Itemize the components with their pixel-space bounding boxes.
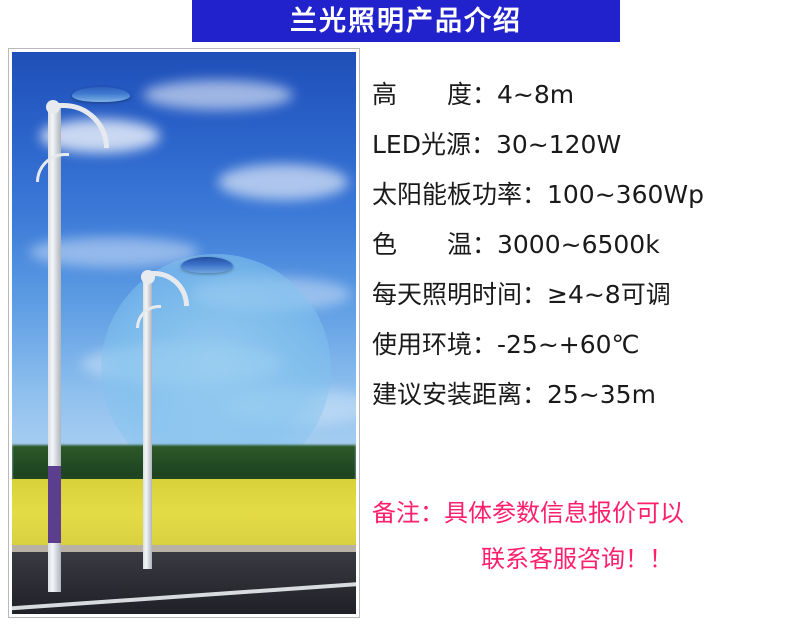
page-title: 兰光照明产品介绍 (290, 8, 522, 35)
spec-row-daily-hours: 每天照明时间：≥4~8可调 (372, 270, 792, 320)
product-image-frame (8, 48, 360, 618)
led-lamp-head-back (181, 257, 233, 273)
spec-row-environment: 使用环境：-25~+60℃ (372, 320, 792, 370)
pole-purple-band (48, 466, 61, 543)
road-marking (12, 581, 356, 611)
remark-note: 备注：具体参数信息报价可以 联系客服咨询！！ (372, 490, 792, 582)
road-curb (12, 545, 356, 552)
led-lamp-head-front (72, 87, 130, 102)
product-intro-page: 兰光照明产品介绍 (0, 0, 800, 627)
spec-row-color-temp: 色 温：3000~6500k (372, 220, 792, 270)
page-title-bar: 兰光照明产品介绍 (192, 0, 620, 42)
spec-row-height: 高 度：4~8m (372, 70, 792, 120)
spec-list: 高 度：4~8m LED光源：30~120W 太阳能板功率：100~360Wp … (372, 70, 792, 420)
spec-row-led-source: LED光源：30~120W (372, 120, 792, 170)
cloud-icon (143, 80, 293, 110)
road (12, 552, 356, 614)
remark-line-2: 联系客服咨询！！ (372, 536, 792, 582)
spec-row-solar-power: 太阳能板功率：100~360Wp (372, 170, 792, 220)
product-image (12, 52, 356, 614)
remark-line-1: 备注：具体参数信息报价可以 (372, 490, 792, 536)
spec-row-install-space: 建议安装距离：25~35m (372, 370, 792, 420)
